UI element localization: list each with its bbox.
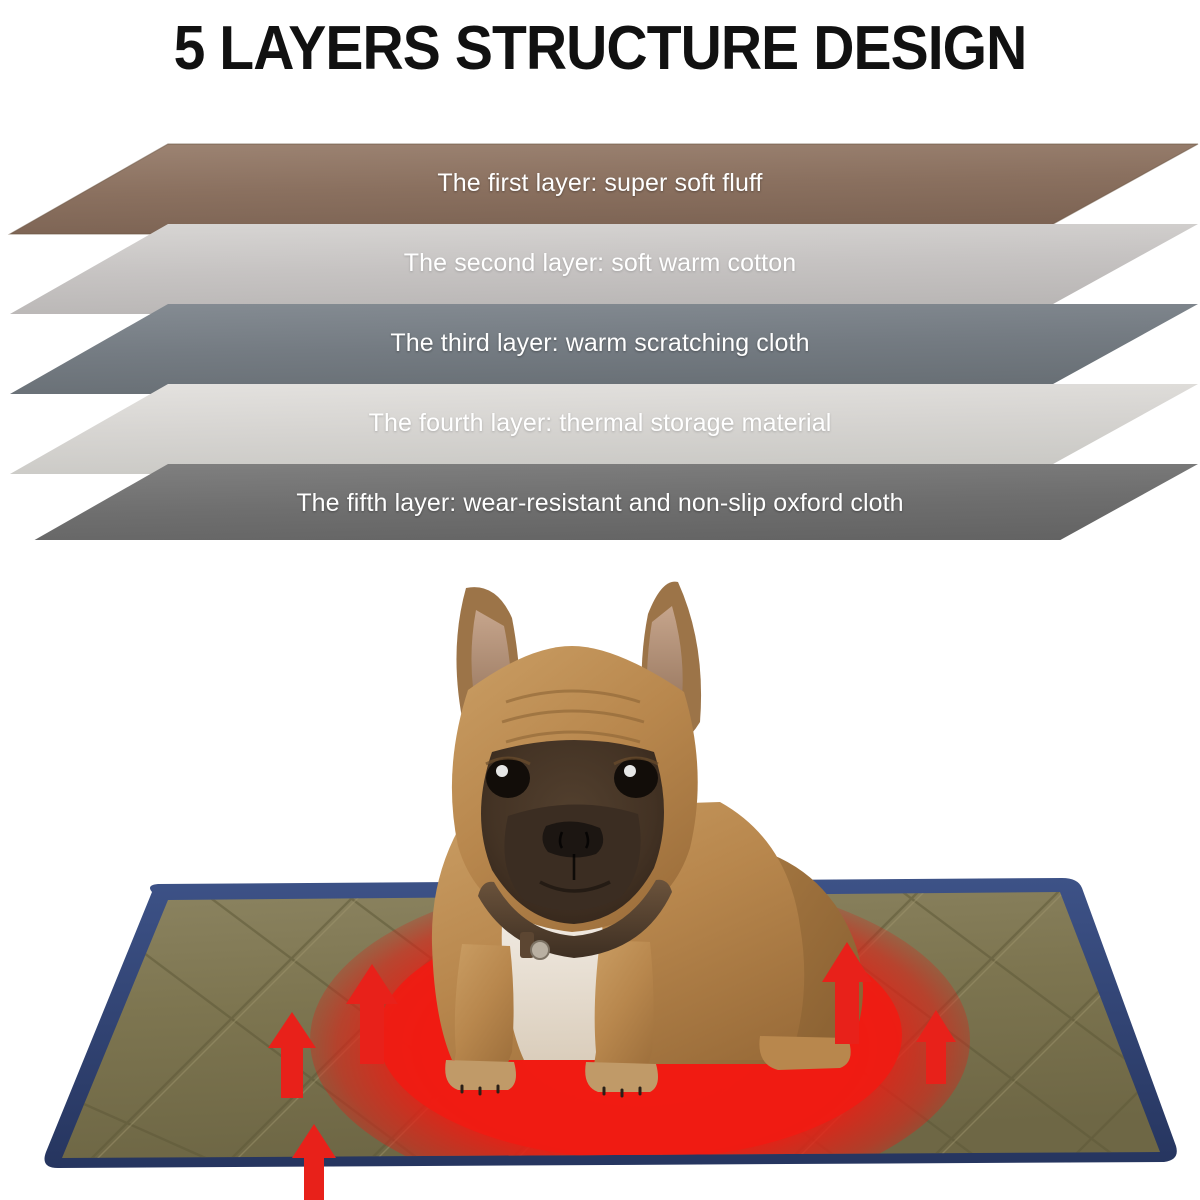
product-photo xyxy=(0,540,1200,1200)
layer-stack: The first layer: super soft fluff The se… xyxy=(0,142,1200,542)
french-bulldog xyxy=(432,582,863,1096)
dog-on-mat-illustration xyxy=(0,540,1200,1200)
page-title: 5 LAYERS STRUCTURE DESIGN xyxy=(48,14,1152,84)
infographic-root: 5 LAYERS STRUCTURE DESIGN The first laye… xyxy=(0,0,1200,1200)
